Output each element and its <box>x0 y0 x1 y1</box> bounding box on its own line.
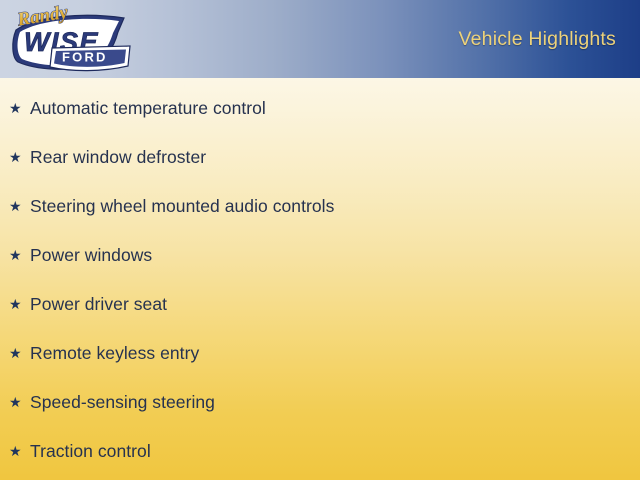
vehicle-highlights-list: ★ Automatic temperature control ★ Rear w… <box>0 78 640 480</box>
star-bullet-icon: ★ <box>9 395 30 409</box>
list-item: ★ Remote keyless entry <box>9 340 199 366</box>
list-item: ★ Power driver seat <box>9 291 167 317</box>
star-bullet-icon: ★ <box>9 199 30 213</box>
list-item: ★ Steering wheel mounted audio controls <box>9 193 334 219</box>
star-bullet-icon: ★ <box>9 101 30 115</box>
vehicle-highlights-slide: WISE FORD Randy Vehicle Highlights ★ Aut… <box>0 0 640 480</box>
star-bullet-icon: ★ <box>9 444 30 458</box>
page-title: Vehicle Highlights <box>458 28 616 51</box>
slide-header: WISE FORD Randy Vehicle Highlights <box>0 0 640 78</box>
svg-text:FORD: FORD <box>62 50 108 65</box>
list-item: ★ Rear window defroster <box>9 144 206 170</box>
list-item: ★ Automatic temperature control <box>9 95 266 121</box>
list-item-label: Power windows <box>30 245 152 266</box>
randy-wise-ford-logo: WISE FORD Randy <box>6 2 134 76</box>
star-bullet-icon: ★ <box>9 346 30 360</box>
star-bullet-icon: ★ <box>9 150 30 164</box>
star-bullet-icon: ★ <box>9 297 30 311</box>
list-item-label: Power driver seat <box>30 294 167 315</box>
list-item: ★ Power windows <box>9 242 152 268</box>
list-item: ★ Speed-sensing steering <box>9 389 215 415</box>
list-item: ★ Traction control <box>9 438 151 464</box>
list-item-label: Automatic temperature control <box>30 98 266 119</box>
star-bullet-icon: ★ <box>9 248 30 262</box>
list-item-label: Traction control <box>30 441 151 462</box>
list-item-label: Steering wheel mounted audio controls <box>30 196 334 217</box>
list-item-label: Speed-sensing steering <box>30 392 215 413</box>
list-item-label: Remote keyless entry <box>30 343 199 364</box>
list-item-label: Rear window defroster <box>30 147 206 168</box>
